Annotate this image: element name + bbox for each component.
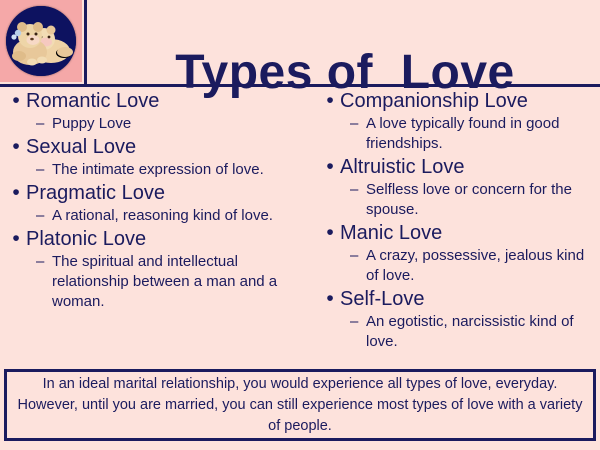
detail-row: – Puppy Love xyxy=(6,114,300,134)
dash-icon: – xyxy=(36,252,52,272)
dash-icon: – xyxy=(350,114,366,134)
bullet-icon: • xyxy=(6,226,26,252)
dash-icon: – xyxy=(350,246,366,266)
dash-icon: – xyxy=(36,114,52,134)
love-type-label: Altruistic Love xyxy=(340,154,465,180)
list-item: • Sexual Love – The intimate expression … xyxy=(6,134,300,180)
love-type-label: Pragmatic Love xyxy=(26,180,165,206)
left-column: • Romantic Love – Puppy Love • Sexual Lo… xyxy=(0,88,300,364)
love-type-description: Puppy Love xyxy=(52,114,131,134)
detail-row: – A love typically found in good friends… xyxy=(320,114,600,154)
right-column: • Companionship Love – A love typically … xyxy=(300,88,600,364)
list-item: • Manic Love – A crazy, possessive, jeal… xyxy=(320,220,600,286)
love-type-label: Sexual Love xyxy=(26,134,136,160)
dash-icon: – xyxy=(350,180,366,200)
summary-box: In an ideal marital relationship, you wo… xyxy=(4,369,596,441)
love-type-description: A love typically found in good friendshi… xyxy=(366,114,600,154)
detail-row: – The intimate expression of love. xyxy=(6,160,300,180)
love-type-label: Companionship Love xyxy=(340,88,528,114)
bullet-row: • Altruistic Love xyxy=(320,154,600,180)
bullet-icon: • xyxy=(6,134,26,160)
bullet-row: • Manic Love xyxy=(320,220,600,246)
slide-body: • Romantic Love – Puppy Love • Sexual Lo… xyxy=(0,88,600,364)
detail-row: – A rational, reasoning kind of love. xyxy=(6,206,300,226)
bullet-icon: • xyxy=(320,88,340,114)
bullet-row: • Platonic Love xyxy=(6,226,300,252)
list-item: • Altruistic Love – Selfless love or con… xyxy=(320,154,600,220)
detail-row: – An egotistic, narcissistic kind of lov… xyxy=(320,312,600,352)
love-type-description: The spiritual and intellectual relations… xyxy=(52,252,300,312)
love-type-description: The intimate expression of love. xyxy=(52,160,264,180)
love-type-label: Manic Love xyxy=(340,220,442,246)
detail-row: – Selfless love or concern for the spous… xyxy=(320,180,600,220)
header-horizontal-rule xyxy=(0,84,600,87)
teddy-bears-image xyxy=(6,6,76,76)
list-item: • Self-Love – An egotistic, narcissistic… xyxy=(320,286,600,352)
slide-header: Types of Love xyxy=(0,0,600,84)
bullet-icon: • xyxy=(6,180,26,206)
love-type-label: Romantic Love xyxy=(26,88,159,114)
list-item: • Companionship Love – A love typically … xyxy=(320,88,600,154)
bullet-icon: • xyxy=(6,88,26,114)
bullet-row: • Self-Love xyxy=(320,286,600,312)
dash-icon: – xyxy=(350,312,366,332)
logo-panel xyxy=(0,0,82,82)
love-type-description: Selfless love or concern for the spouse. xyxy=(366,180,600,220)
dash-icon: – xyxy=(36,206,52,226)
love-type-label: Self-Love xyxy=(340,286,425,312)
bullet-row: • Pragmatic Love xyxy=(6,180,300,206)
list-item: • Pragmatic Love – A rational, reasoning… xyxy=(6,180,300,226)
bullet-icon: • xyxy=(320,220,340,246)
dash-icon: – xyxy=(36,160,52,180)
list-item: • Platonic Love – The spiritual and inte… xyxy=(6,226,300,312)
bullet-row: • Sexual Love xyxy=(6,134,300,160)
summary-text: In an ideal marital relationship, you wo… xyxy=(13,374,587,437)
love-type-description: An egotistic, narcissistic kind of love. xyxy=(366,312,600,352)
love-type-description: A rational, reasoning kind of love. xyxy=(52,206,273,226)
bullet-row: • Companionship Love xyxy=(320,88,600,114)
love-type-description: A crazy, possessive, jealous kind of lov… xyxy=(366,246,600,286)
header-vertical-divider xyxy=(84,0,87,84)
love-type-label: Platonic Love xyxy=(26,226,146,252)
bullet-icon: • xyxy=(320,154,340,180)
detail-row: – A crazy, possessive, jealous kind of l… xyxy=(320,246,600,286)
bullet-icon: • xyxy=(320,286,340,312)
detail-row: – The spiritual and intellectual relatio… xyxy=(6,252,300,312)
list-item: • Romantic Love – Puppy Love xyxy=(6,88,300,134)
bullet-row: • Romantic Love xyxy=(6,88,300,114)
